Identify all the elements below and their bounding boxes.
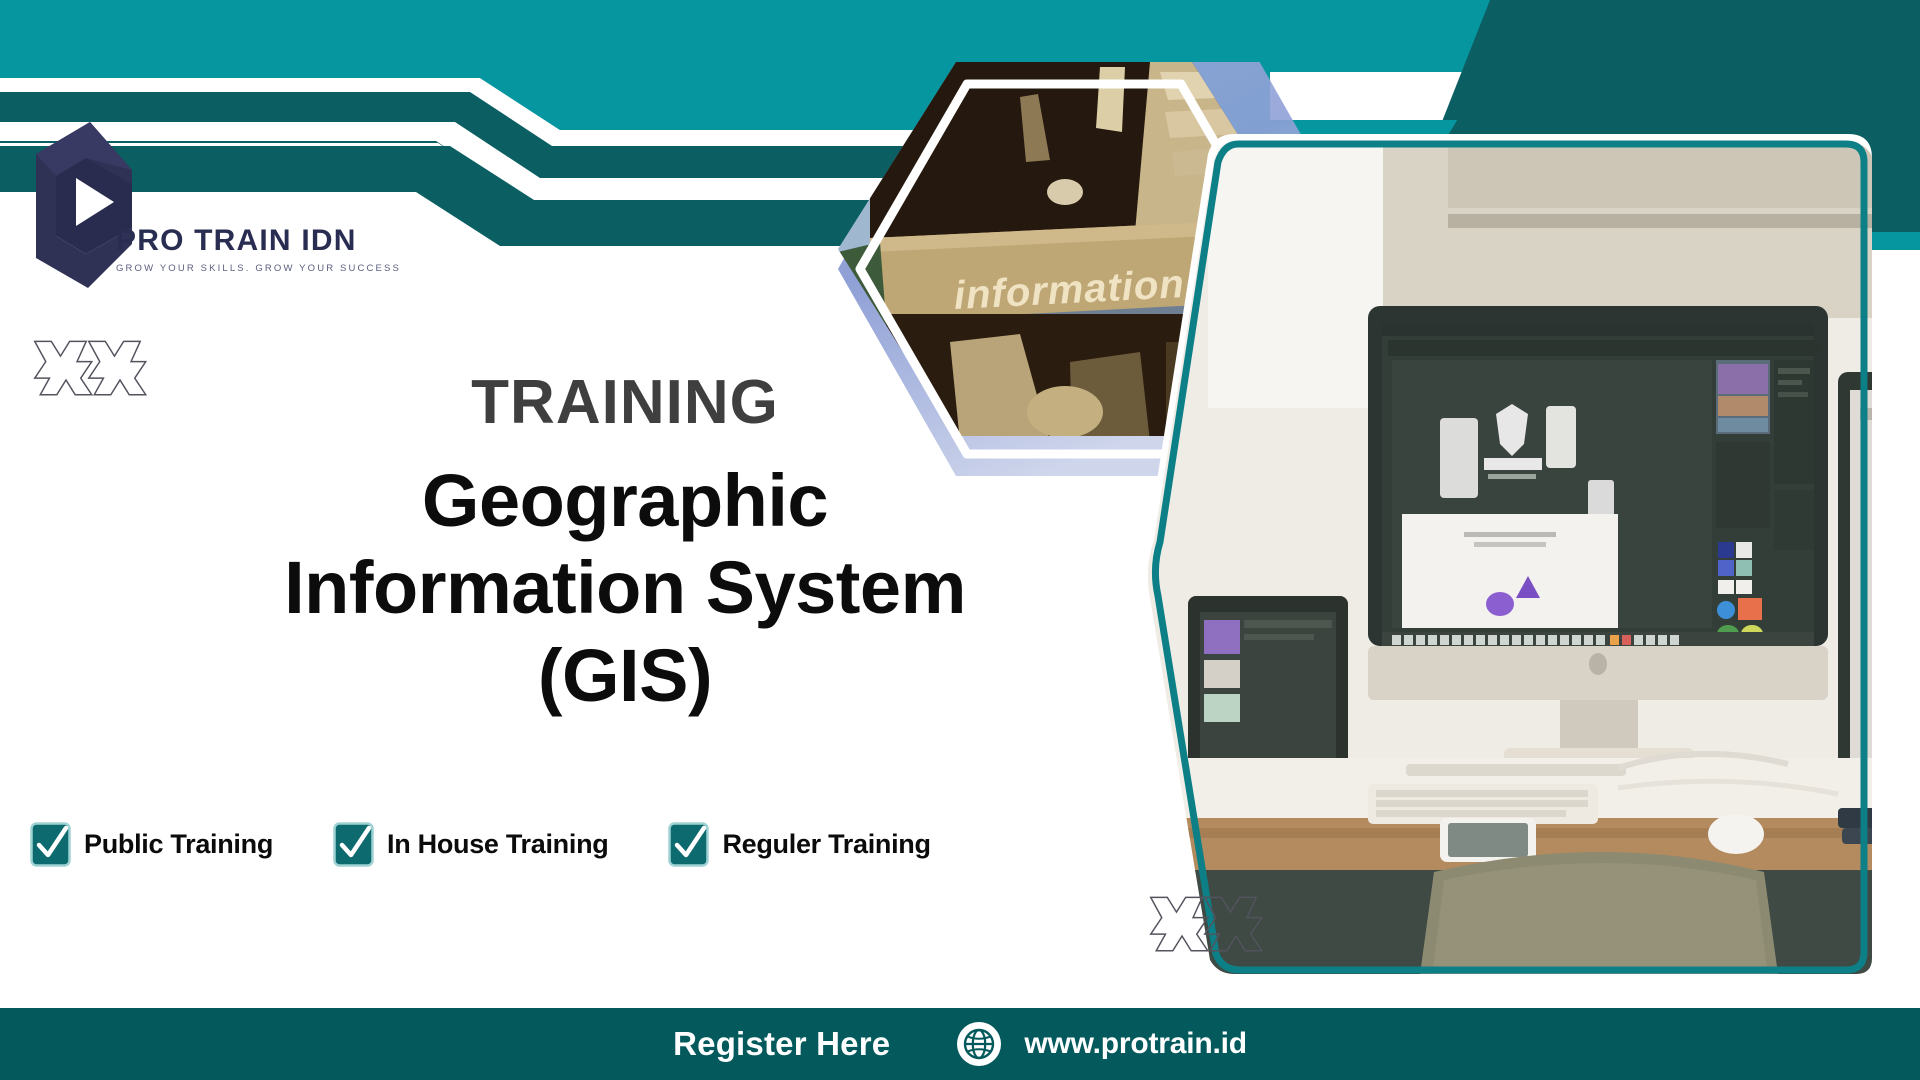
- headline-kicker: TRAINING: [120, 370, 1130, 435]
- cross-pair-bottom-middle-icon: [1140, 888, 1264, 972]
- website-url[interactable]: www.protrain.id: [1024, 1027, 1247, 1061]
- headline-block: TRAINING Geographic Information System (…: [120, 370, 1130, 719]
- training-type-item[interactable]: In House Training: [333, 822, 608, 867]
- training-type-label: Public Training: [84, 829, 273, 860]
- promo-banner: information: [0, 0, 1920, 1080]
- training-type-item[interactable]: Public Training: [30, 822, 273, 867]
- checkbox-checked-icon[interactable]: [30, 822, 71, 867]
- photo-imac-screen: [1368, 306, 1828, 648]
- page-title: Geographic Information System (GIS): [120, 457, 1130, 719]
- training-types-list: Public Training In House Training Regule…: [30, 822, 931, 867]
- brand-tagline: GROW YOUR SKILLS. GROW YOUR SUCCESS: [116, 263, 416, 274]
- checkbox-checked-icon[interactable]: [668, 822, 709, 867]
- training-type-item[interactable]: Reguler Training: [668, 822, 930, 867]
- training-type-label: In House Training: [387, 829, 608, 860]
- register-here-label[interactable]: Register Here: [673, 1025, 890, 1063]
- brand-logo[interactable]: PRO TRAIN IDN GROW YOUR SKILLS. GROW YOU…: [28, 118, 408, 298]
- title-line-1: Geographic: [120, 457, 1130, 544]
- title-line-3: (GIS): [120, 632, 1130, 719]
- checkbox-checked-icon[interactable]: [333, 822, 374, 867]
- training-type-label: Reguler Training: [722, 829, 930, 860]
- website-group[interactable]: www.protrain.id: [956, 1021, 1247, 1067]
- brand-name: PRO TRAIN IDN: [116, 226, 416, 256]
- globe-icon: [956, 1021, 1002, 1067]
- brand-logo-text: PRO TRAIN IDN GROW YOUR SKILLS. GROW YOU…: [116, 226, 416, 274]
- title-line-2: Information System: [120, 544, 1130, 631]
- footer-bar: Register Here www.protrain.id: [0, 1008, 1920, 1080]
